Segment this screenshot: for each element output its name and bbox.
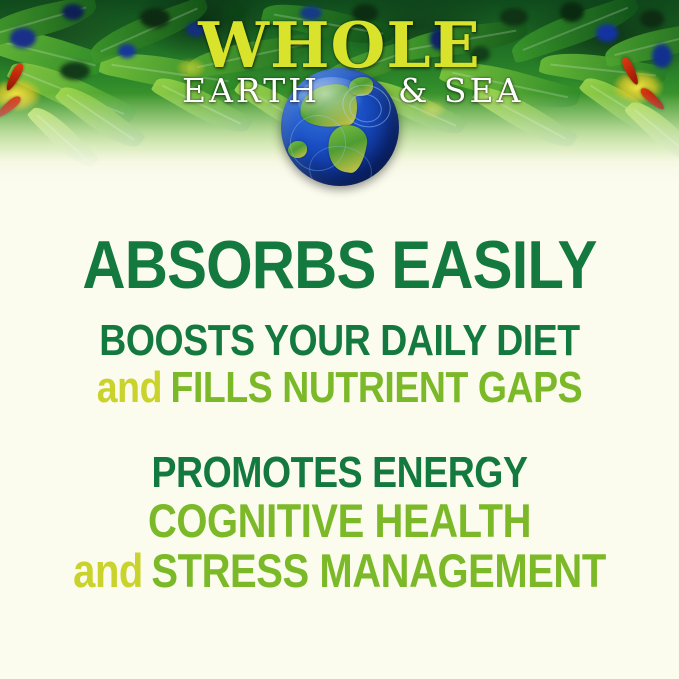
- benefit-line: COGNITIVE HEALTH: [51, 496, 628, 546]
- brand-name-sea: & SEA: [398, 70, 523, 112]
- brand-name-row2: EARTH & SEA: [0, 70, 679, 114]
- benefit-conjunction: and: [97, 363, 162, 412]
- benefit-block-1: BOOSTS YOUR DAILY DIET andFILLS NUTRIENT…: [0, 300, 679, 411]
- benefit-conjunction: and: [73, 544, 143, 597]
- benefit-line: andFILLS NUTRIENT GAPS: [51, 364, 628, 411]
- benefit-line: BOOSTS YOUR DAILY DIET: [51, 317, 628, 364]
- brand-name-whole: WHOLE: [0, 14, 679, 76]
- marketing-copy: ABSORBS EASILY BOOSTS YOUR DAILY DIET an…: [0, 186, 679, 596]
- benefit-text: PROMOTES ENERGY: [152, 448, 528, 497]
- benefit-text: FILLS NUTRIENT GAPS: [171, 363, 583, 412]
- benefit-line: PROMOTES ENERGY: [51, 449, 628, 496]
- page-title: ABSORBS EASILY: [41, 186, 639, 300]
- benefit-block-2: PROMOTES ENERGY COGNITIVE HEALTH andSTRE…: [0, 411, 679, 596]
- product-infographic-poster: WHOLE EARTH & SEA ABSORBS EASILY BOOSTS …: [0, 0, 679, 679]
- brand-logo: WHOLE EARTH & SEA: [0, 14, 679, 114]
- brand-name-earth: EARTH: [182, 70, 320, 112]
- benefit-text: STRESS MANAGEMENT: [151, 544, 605, 597]
- benefit-line: andSTRESS MANAGEMENT: [51, 546, 628, 596]
- benefit-text: BOOSTS YOUR DAILY DIET: [99, 316, 579, 365]
- benefit-text: COGNITIVE HEALTH: [148, 494, 531, 547]
